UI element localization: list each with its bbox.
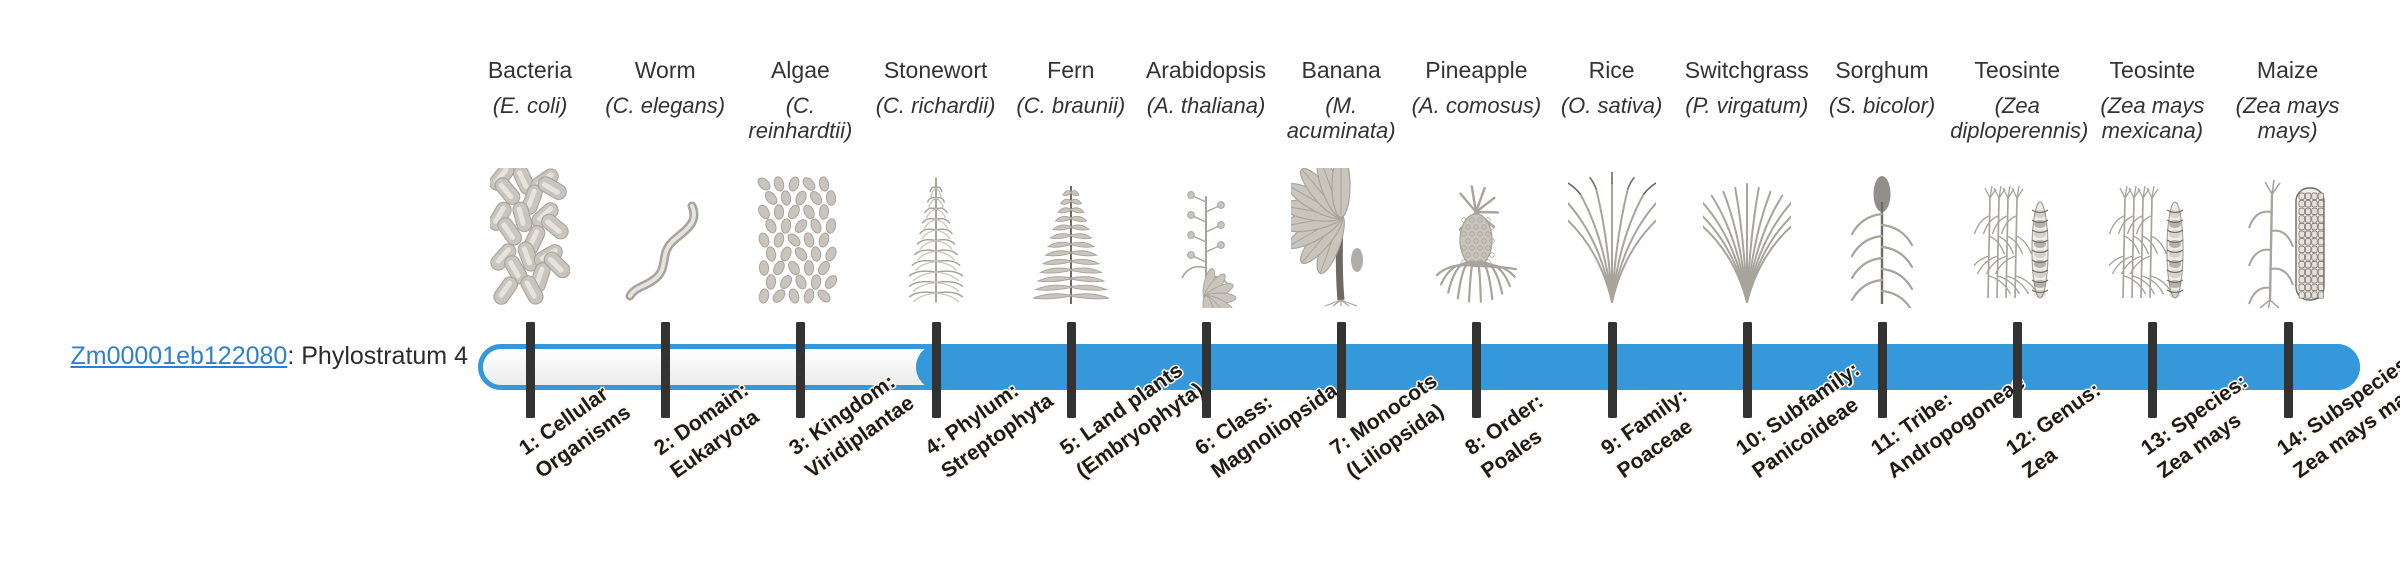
pineapple-illustration (1409, 168, 1543, 308)
species-scientific-name: (S. bicolor) (1815, 94, 1949, 119)
species-common-name: Fern (1004, 58, 1138, 83)
species-scientific-name: (E. coli) (463, 94, 597, 119)
species-scientific-name: (P. virgatum) (1680, 94, 1814, 119)
species-scientific-name: (M. acuminata) (1274, 94, 1408, 144)
phylostratum-tick-9[interactable] (1608, 322, 1617, 418)
sorghum-illustration (1815, 168, 1949, 308)
teosinte-illustration (2085, 168, 2219, 308)
phylostratum-tick-12[interactable] (2013, 322, 2022, 418)
species-scientific-name: (C. elegans) (598, 94, 732, 119)
phylostratum-tick-11[interactable] (1878, 322, 1887, 418)
phylostratum-tick-13[interactable] (2148, 322, 2157, 418)
species-common-name: Pineapple (1409, 58, 1543, 83)
species-common-name: Switchgrass (1680, 58, 1814, 83)
species-common-name: Teosinte (2085, 58, 2219, 83)
species-scientific-name: (C. braunii) (1004, 94, 1138, 119)
rice-illustration (1545, 168, 1679, 308)
worm-illustration (598, 168, 732, 308)
species-scientific-name: (A. thaliana) (1139, 94, 1273, 119)
fern-illustration (1004, 168, 1138, 308)
species-common-name: Stonewort (869, 58, 1003, 83)
species-common-name: Rice (1545, 58, 1679, 83)
phylostratum-tick-8[interactable] (1472, 322, 1481, 418)
gene-separator: : (287, 342, 301, 370)
species-common-name: Algae (733, 58, 867, 83)
species-scientific-name: (Zea diploperennis) (1950, 94, 2084, 144)
species-common-name: Arabidopsis (1139, 58, 1273, 83)
phylostratum-tick-10[interactable] (1743, 322, 1752, 418)
species-common-name: Sorghum (1815, 58, 1949, 83)
phylostratum-chart: Zm00001eb122080: Phylostratum 4 Bacteria… (0, 0, 2400, 580)
species-scientific-name: (O. sativa) (1545, 94, 1679, 119)
species-common-name: Teosinte (1950, 58, 2084, 83)
species-scientific-name: (C. richardii) (869, 94, 1003, 119)
phylostratum-tick-3[interactable] (796, 322, 805, 418)
phylostratum-tick-2[interactable] (661, 322, 670, 418)
species-common-name: Maize (2221, 58, 2355, 83)
phylostratum-tick-5[interactable] (1067, 322, 1076, 418)
gene-label: Zm00001eb122080: Phylostratum 4 (0, 342, 468, 371)
stonewort-illustration (869, 168, 1003, 308)
teosinte-illustration (1950, 168, 2084, 308)
phylostratum-tick-4[interactable] (932, 322, 941, 418)
species-common-name: Worm (598, 58, 732, 83)
phylostratum-tick-7[interactable] (1337, 322, 1346, 418)
switchgrass-illustration (1680, 168, 1814, 308)
species-scientific-name: (A. comosus) (1409, 94, 1543, 119)
phylostratum-bar-fill (916, 344, 2360, 390)
species-scientific-name: (C. reinhardtii) (733, 94, 867, 144)
banana-illustration (1274, 168, 1408, 308)
maize-illustration (2221, 168, 2355, 308)
species-common-name: Banana (1274, 58, 1408, 83)
arabidopsis-illustration (1139, 168, 1273, 308)
gene-id-link[interactable]: Zm00001eb122080 (70, 342, 287, 370)
phylostratum-tick-6[interactable] (1202, 322, 1211, 418)
species-common-name: Bacteria (463, 58, 597, 83)
species-scientific-name: (Zea mays mexicana) (2085, 94, 2219, 144)
algae-illustration (733, 168, 867, 308)
phylostratum-value-label: Phylostratum 4 (301, 342, 468, 370)
phylostratum-tick-14[interactable] (2284, 322, 2293, 418)
species-scientific-name: (Zea mays mays) (2221, 94, 2355, 144)
phylostratum-tick-1[interactable] (526, 322, 535, 418)
bacteria-illustration (463, 168, 597, 308)
